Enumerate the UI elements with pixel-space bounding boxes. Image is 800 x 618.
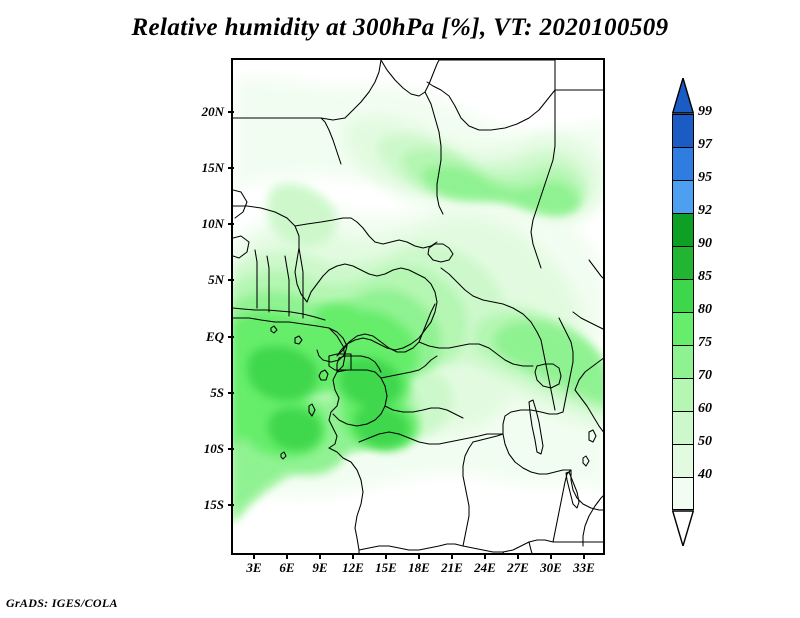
x-tick-mark-24E [484, 553, 486, 559]
colorbar-label-95: 95 [698, 170, 712, 186]
colorbar-band-85[interactable] [672, 279, 694, 312]
y-tick-mark-20N [228, 111, 234, 113]
x-tick-mark-21E [451, 553, 453, 559]
colorbar-label-40: 40 [698, 467, 712, 483]
x-tick-mark-15E [385, 553, 387, 559]
x-tick-label-33E: 33E [562, 560, 606, 576]
colorbar-label-92: 92 [698, 203, 712, 219]
y-tick-mark-5S [228, 392, 234, 394]
colorbar-label-90: 90 [698, 236, 712, 252]
y-tick-label-15S: 15S [178, 497, 224, 513]
x-tick-mark-9E [319, 553, 321, 559]
colorbar-band-99[interactable] [672, 114, 694, 147]
y-tick-mark-10N [228, 223, 234, 225]
y-tick-mark-5N [228, 279, 234, 281]
x-tick-mark-6E [286, 553, 288, 559]
colorbar-band-40[interactable] [672, 477, 694, 510]
colorbar-arrow-top [672, 78, 694, 114]
y-tick-mark-10S [228, 448, 234, 450]
y-tick-label-10S: 10S [178, 441, 224, 457]
page-title: Relative humidity at 300hPa [%], VT: 202… [0, 14, 800, 42]
colorbar-label-70: 70 [698, 368, 712, 384]
colorbar-label-50: 50 [698, 434, 712, 450]
colorbar-band-50[interactable] [672, 444, 694, 477]
x-tick-mark-30E [550, 553, 552, 559]
colorbar[interactable]: 99 97 95 92 90 85 80 75 70 60 50 40 [672, 78, 694, 546]
grads-attribution: GrADS: IGES/COLA [6, 596, 118, 611]
colorbar-label-97: 97 [698, 137, 712, 153]
y-tick-label-20N: 20N [178, 104, 224, 120]
x-tick-mark-33E [583, 553, 585, 559]
y-tick-label-10N: 10N [178, 216, 224, 232]
x-tick-mark-3E [253, 553, 255, 559]
y-tick-label-5N: 5N [178, 272, 224, 288]
colorbar-bands [672, 114, 694, 510]
y-tick-label-EQ: EQ [178, 329, 224, 345]
x-tick-mark-12E [352, 553, 354, 559]
x-tick-mark-27E [517, 553, 519, 559]
map-canvas [233, 60, 605, 555]
y-tick-mark-15S [228, 504, 234, 506]
colorbar-label-99: 99 [698, 104, 712, 120]
y-tick-label-15N: 15N [178, 160, 224, 176]
colorbar-label-75: 75 [698, 335, 712, 351]
y-tick-mark-15N [228, 167, 234, 169]
colorbar-band-90[interactable] [672, 246, 694, 279]
colorbar-band-75[interactable] [672, 345, 694, 378]
colorbar-label-85: 85 [698, 269, 712, 285]
colorbar-label-80: 80 [698, 302, 712, 318]
map-frame [231, 58, 605, 555]
colorbar-band-70[interactable] [672, 378, 694, 411]
y-tick-label-5S: 5S [178, 385, 224, 401]
colorbar-label-60: 60 [698, 401, 712, 417]
humidity-shading-layer [233, 60, 605, 555]
colorbar-band-95[interactable] [672, 180, 694, 213]
colorbar-arrow-bottom [672, 510, 694, 546]
x-tick-mark-18E [418, 553, 420, 559]
colorbar-band-60[interactable] [672, 411, 694, 444]
y-tick-mark-EQ [228, 336, 234, 338]
map-plot-area[interactable] [231, 58, 605, 555]
colorbar-band-97[interactable] [672, 147, 694, 180]
colorbar-band-92[interactable] [672, 213, 694, 246]
colorbar-band-80[interactable] [672, 312, 694, 345]
grads-plot-page: Relative humidity at 300hPa [%], VT: 202… [0, 0, 800, 618]
